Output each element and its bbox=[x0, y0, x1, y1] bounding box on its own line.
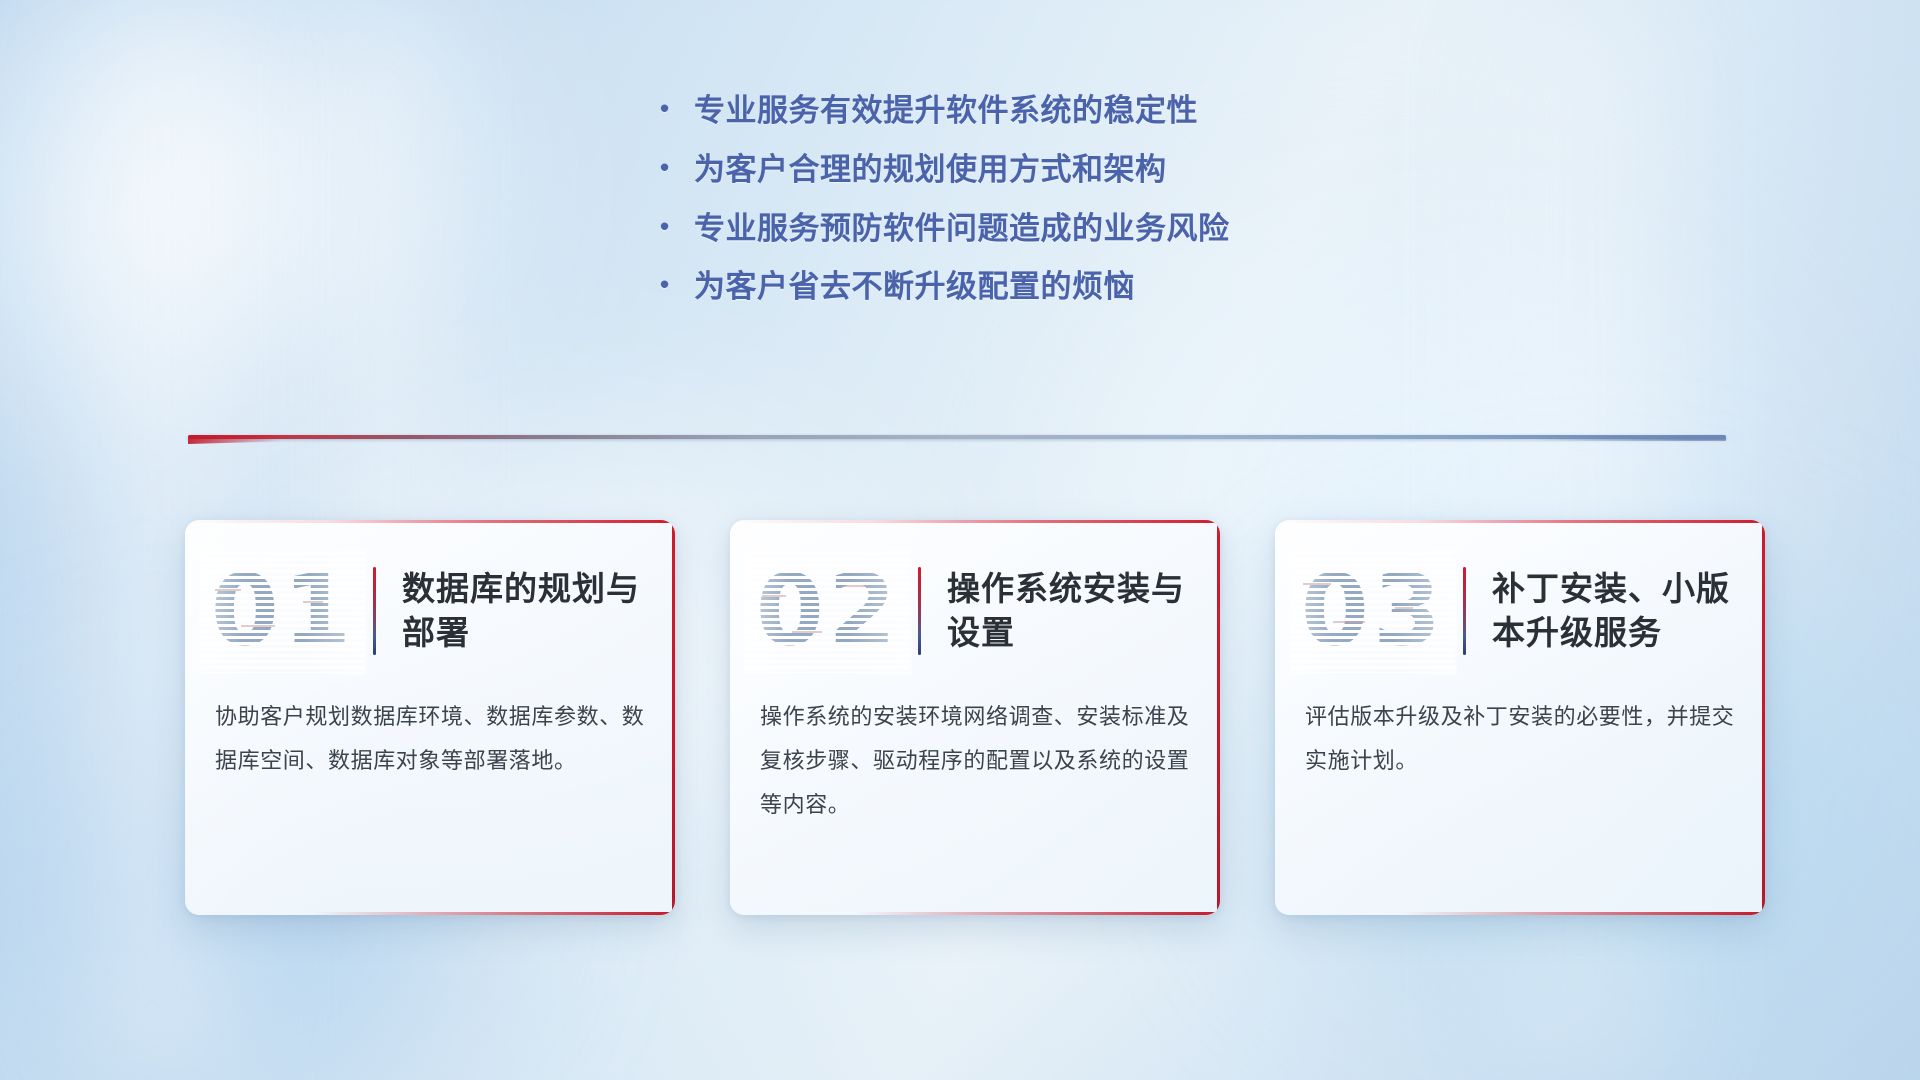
card-number-text: 01 bbox=[207, 555, 359, 667]
benefits-bullet-list: • 专业服务有效提升软件系统的稳定性 • 为客户合理的规划使用方式和架构 • 专… bbox=[660, 92, 1400, 307]
card-number-tick bbox=[303, 601, 323, 603]
list-item: • 为客户省去不断升级配置的烦恼 bbox=[660, 268, 1400, 307]
service-card-group: 01 数据库的规划与部署 协助客户规划数据库环境、数据库参数、数据库空间、数据库… bbox=[185, 520, 1765, 915]
card-bottom-accent-border bbox=[857, 912, 1220, 915]
card-top-accent-border bbox=[185, 520, 675, 523]
list-item: • 专业服务有效提升软件系统的稳定性 bbox=[660, 92, 1400, 131]
card-number-tick bbox=[1303, 583, 1331, 585]
bullet-text: 为客户省去不断升级配置的烦恼 bbox=[694, 268, 1400, 307]
bullet-dot-icon: • bbox=[660, 95, 694, 121]
card-title: 操作系统安装与设置 bbox=[947, 567, 1220, 654]
bullet-text: 为客户合理的规划使用方式和架构 bbox=[694, 151, 1400, 190]
card-number-text: 03 bbox=[1297, 555, 1449, 667]
bullet-dot-icon: • bbox=[660, 271, 694, 297]
card-number-tick bbox=[792, 631, 822, 633]
card-title: 补丁安装、小版本升级服务 bbox=[1492, 567, 1765, 654]
card-number-tick bbox=[844, 585, 866, 587]
card-number-tick bbox=[215, 589, 241, 591]
card-number-glyph: 01 bbox=[207, 555, 359, 667]
card-top-accent-border bbox=[1275, 520, 1765, 523]
divider-left-taper bbox=[188, 432, 318, 444]
card-number-glyph: 03 bbox=[1297, 555, 1449, 667]
section-divider bbox=[188, 432, 1726, 444]
list-item: • 为客户合理的规划使用方式和架构 bbox=[660, 151, 1400, 190]
service-card-2[interactable]: 02 操作系统安装与设置 操作系统的安装环境网络调查、安装标准及复核步骤、驱动程… bbox=[730, 520, 1220, 915]
card-number-text: 02 bbox=[752, 555, 904, 667]
card-number-tick bbox=[1395, 607, 1413, 609]
card-title-divider bbox=[918, 567, 921, 655]
card-top-accent-border bbox=[730, 520, 1220, 523]
list-item: • 专业服务预防软件问题造成的业务风险 bbox=[660, 210, 1400, 249]
card-number-tick bbox=[241, 625, 275, 627]
card-bottom-accent-border bbox=[312, 912, 675, 915]
service-card-1[interactable]: 01 数据库的规划与部署 协助客户规划数据库环境、数据库参数、数据库空间、数据库… bbox=[185, 520, 675, 915]
bullet-text: 专业服务预防软件问题造成的业务风险 bbox=[694, 210, 1400, 249]
bullet-dot-icon: • bbox=[660, 154, 694, 180]
bullet-text: 专业服务有效提升软件系统的稳定性 bbox=[694, 92, 1400, 131]
card-body-text: 评估版本升级及补丁安装的必要性，并提交实施计划。 bbox=[1305, 695, 1737, 783]
card-number-tick bbox=[1333, 621, 1365, 623]
card-body-text: 操作系统的安装环境网络调查、安装标准及复核步骤、驱动程序的配置以及系统的设置等内… bbox=[760, 695, 1192, 827]
card-title-divider bbox=[1463, 567, 1466, 655]
bullet-dot-icon: • bbox=[660, 213, 694, 239]
card-header: 02 操作系统安装与设置 bbox=[730, 546, 1220, 676]
card-header: 03 补丁安装、小版本升级服务 bbox=[1275, 546, 1765, 676]
card-number-tick bbox=[762, 595, 786, 597]
card-title: 数据库的规划与部署 bbox=[402, 567, 675, 654]
card-body-text: 协助客户规划数据库环境、数据库参数、数据库空间、数据库对象等部署落地。 bbox=[215, 695, 647, 783]
divider-line bbox=[188, 435, 1726, 439]
card-header: 01 数据库的规划与部署 bbox=[185, 546, 675, 676]
service-card-3[interactable]: 03 补丁安装、小版本升级服务 评估版本升级及补丁安装的必要性，并提交实施计划。 bbox=[1275, 520, 1765, 915]
card-bottom-accent-border bbox=[1402, 912, 1765, 915]
card-number-glyph: 02 bbox=[752, 555, 904, 667]
card-title-divider bbox=[373, 567, 376, 655]
